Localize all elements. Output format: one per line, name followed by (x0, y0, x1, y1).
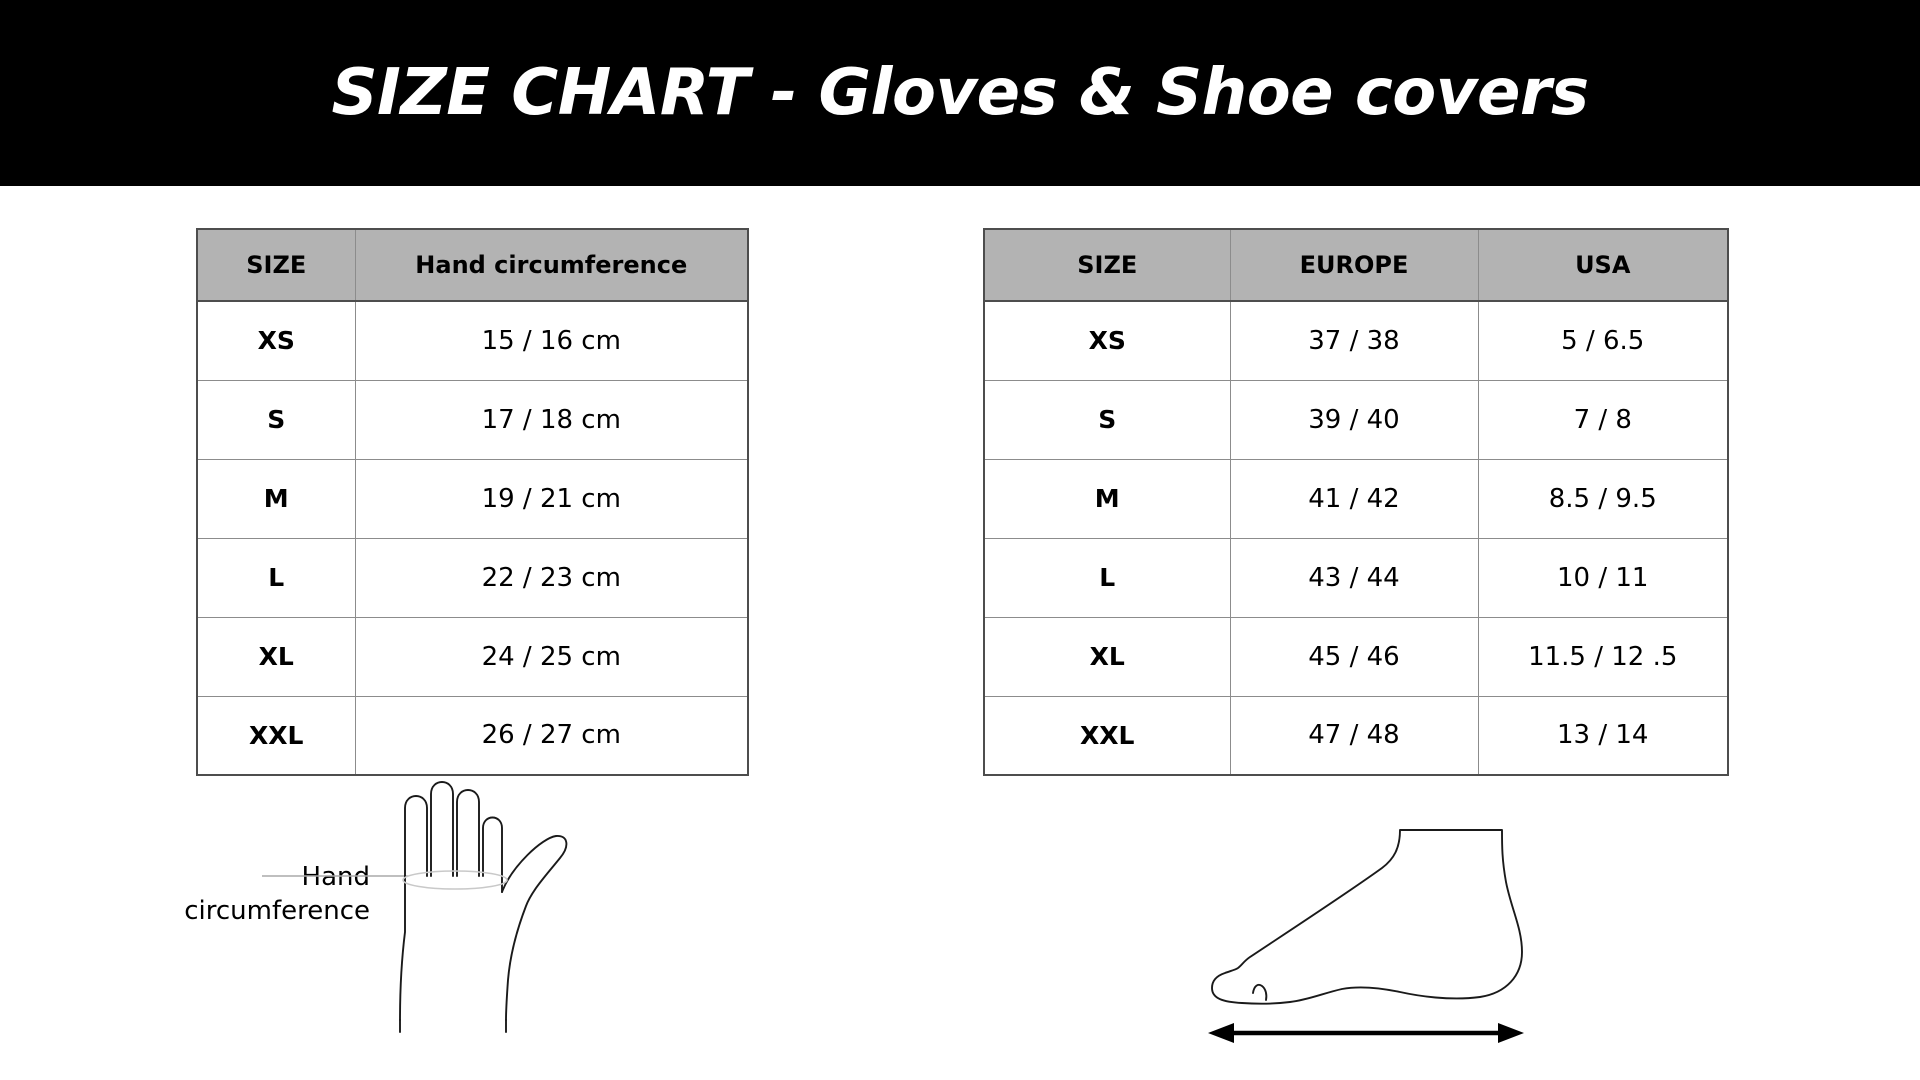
column-header-usa: USA (1478, 229, 1728, 301)
cell-hand-circumference: 24 / 25 cm (355, 617, 748, 696)
cell-hand-circumference: 26 / 27 cm (355, 696, 748, 775)
table-header-row: SIZE Hand circumference (197, 229, 748, 301)
cell-europe: 45 / 46 (1230, 617, 1478, 696)
cell-europe: 43 / 44 (1230, 538, 1478, 617)
foot-side-profile-outline-icon (1150, 790, 1540, 1050)
cell-size: M (197, 459, 355, 538)
gloves-size-table: SIZE Hand circumference XS 15 / 16 cm S … (196, 228, 749, 776)
cell-europe: 47 / 48 (1230, 696, 1478, 775)
title-banner: SIZE CHART - Gloves & Shoe covers (0, 0, 1920, 186)
foot-outline-path (1212, 830, 1522, 1004)
cell-size: XL (984, 617, 1230, 696)
cell-size: XS (197, 301, 355, 380)
hand-outline-path (400, 782, 566, 1032)
cell-usa: 11.5 / 12 .5 (1478, 617, 1728, 696)
cell-usa: 7 / 8 (1478, 380, 1728, 459)
size-chart-page: SIZE CHART - Gloves & Shoe covers SIZE H… (0, 0, 1920, 1080)
cell-hand-circumference: 19 / 21 cm (355, 459, 748, 538)
table-row: XXL 47 / 48 13 / 14 (984, 696, 1728, 775)
table-row: S 39 / 40 7 / 8 (984, 380, 1728, 459)
table-row: XL 45 / 46 11.5 / 12 .5 (984, 617, 1728, 696)
cell-size: S (984, 380, 1230, 459)
cell-size: XS (984, 301, 1230, 380)
cell-size: XXL (197, 696, 355, 775)
cell-hand-circumference: 22 / 23 cm (355, 538, 748, 617)
cell-usa: 13 / 14 (1478, 696, 1728, 775)
cell-usa: 8.5 / 9.5 (1478, 459, 1728, 538)
table-row: M 19 / 21 cm (197, 459, 748, 538)
cell-europe: 39 / 40 (1230, 380, 1478, 459)
shoe-covers-size-table: SIZE EUROPE USA XS 37 / 38 5 / 6.5 S 39 … (983, 228, 1729, 776)
table-row: XL 24 / 25 cm (197, 617, 748, 696)
table-row: XXL 26 / 27 cm (197, 696, 748, 775)
table-row: S 17 / 18 cm (197, 380, 748, 459)
cell-hand-circumference: 15 / 16 cm (355, 301, 748, 380)
page-title: SIZE CHART - Gloves & Shoe covers (331, 56, 1588, 130)
cell-europe: 37 / 38 (1230, 301, 1478, 380)
open-hand-outline-icon (150, 780, 630, 1070)
hand-circumference-ellipse (403, 871, 507, 889)
cell-europe: 41 / 42 (1230, 459, 1478, 538)
cell-usa: 10 / 11 (1478, 538, 1728, 617)
cell-usa: 5 / 6.5 (1478, 301, 1728, 380)
cell-size: L (984, 538, 1230, 617)
table-row: XS 15 / 16 cm (197, 301, 748, 380)
cell-size: L (197, 538, 355, 617)
table-row: L 43 / 44 10 / 11 (984, 538, 1728, 617)
column-header-size: SIZE (197, 229, 355, 301)
foot-length-double-arrow-icon (1208, 1023, 1524, 1043)
table-row: XS 37 / 38 5 / 6.5 (984, 301, 1728, 380)
cell-hand-circumference: 17 / 18 cm (355, 380, 748, 459)
table-row: M 41 / 42 8.5 / 9.5 (984, 459, 1728, 538)
column-header-hand-circumference: Hand circumference (355, 229, 748, 301)
cell-size: M (984, 459, 1230, 538)
column-header-europe: EUROPE (1230, 229, 1478, 301)
cell-size: S (197, 380, 355, 459)
table-header-row: SIZE EUROPE USA (984, 229, 1728, 301)
cell-size: XL (197, 617, 355, 696)
table-row: L 22 / 23 cm (197, 538, 748, 617)
column-header-size: SIZE (984, 229, 1230, 301)
cell-size: XXL (984, 696, 1230, 775)
